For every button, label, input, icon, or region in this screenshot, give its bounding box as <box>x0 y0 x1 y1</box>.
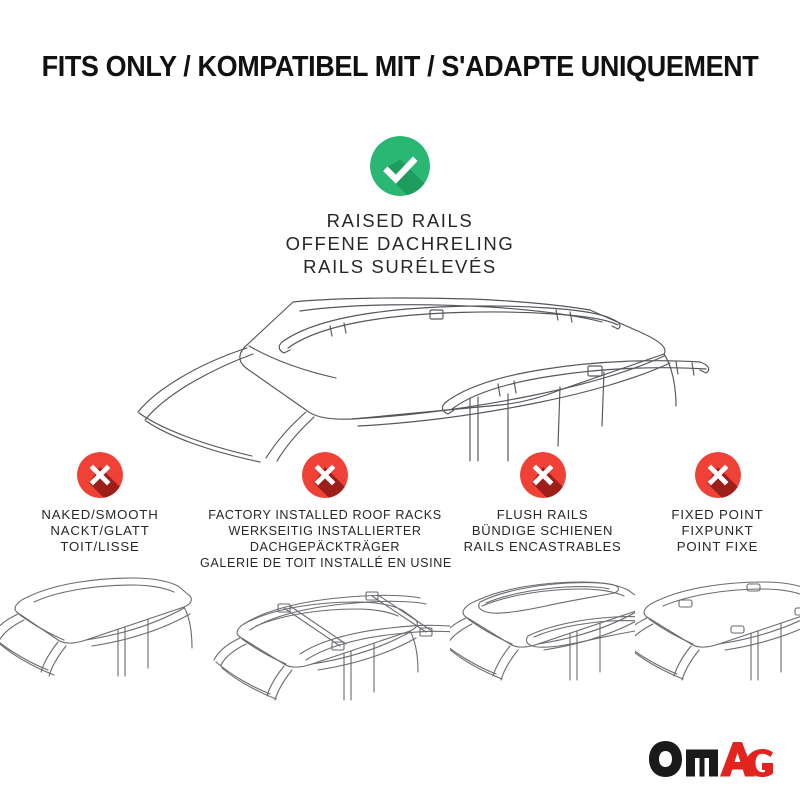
car-roof-flush-rails-illustration <box>450 556 635 706</box>
incompatible-item-flush-rails: FLUSH RAILS BÜNDIGE SCHIENEN RAILS ENCAS… <box>450 452 635 555</box>
incompatible-labels: FLUSH RAILS BÜNDIGE SCHIENEN RAILS ENCAS… <box>450 507 635 555</box>
car-roof-naked-smooth-illustration <box>0 556 200 706</box>
label-line-3: DACHGEPÄCKTRÄGER <box>200 539 450 555</box>
check-circle-icon <box>370 136 430 196</box>
label-line-3: TOIT/LISSE <box>0 539 200 555</box>
x-circle-icon <box>695 452 741 498</box>
car-roof-fixed-point-illustration <box>635 556 800 706</box>
compatible-section: RAISED RAILS OFFENE DACHRELING RAILS SUR… <box>0 136 800 476</box>
incompatible-section: NAKED/SMOOTH NACKT/GLATT TOIT/LISSE <box>0 452 800 571</box>
label-line-1: FACTORY INSTALLED ROOF RACKS <box>200 507 450 523</box>
car-roof-factory-roof-rack-illustration <box>200 570 450 720</box>
label-line-2: NACKT/GLATT <box>0 523 200 539</box>
omac-logo: OMAC <box>648 740 774 778</box>
label-line-2: FIXPUNKT <box>635 523 800 539</box>
page-title: FITS ONLY / KOMPATIBEL MIT / S'ADAPTE UN… <box>28 50 772 84</box>
x-circle-icon <box>302 452 348 498</box>
label-line-1: NAKED/SMOOTH <box>0 507 200 523</box>
compatible-labels: RAISED RAILS OFFENE DACHRELING RAILS SUR… <box>0 209 800 278</box>
compatible-label-en: RAISED RAILS <box>0 209 800 232</box>
omac-logo-text: OMAC <box>648 778 649 779</box>
label-line-3: RAILS ENCASTRABLES <box>450 539 635 555</box>
label-line-2: WERKSEITIG INSTALLIERTER <box>200 523 450 539</box>
incompatible-item-factory-roof-rack: FACTORY INSTALLED ROOF RACKS WERKSEITIG … <box>200 452 450 571</box>
incompatible-item-fixed-point: FIXED POINT FIXPUNKT POINT FIXE <box>635 452 800 555</box>
x-circle-icon <box>520 452 566 498</box>
incompatible-labels: FIXED POINT FIXPUNKT POINT FIXE <box>635 507 800 555</box>
label-line-1: FIXED POINT <box>635 507 800 523</box>
compatible-label-fr: RAILS SURÉLEVÉS <box>0 255 800 278</box>
label-line-3: POINT FIXE <box>635 539 800 555</box>
car-roof-with-raised-rails-illustration <box>0 286 800 471</box>
page-header: FITS ONLY / KOMPATIBEL MIT / S'ADAPTE UN… <box>0 50 800 84</box>
incompatible-item-naked-smooth: NAKED/SMOOTH NACKT/GLATT TOIT/LISSE <box>0 452 200 555</box>
compatible-label-de: OFFENE DACHRELING <box>0 232 800 255</box>
label-line-2: BÜNDIGE SCHIENEN <box>450 523 635 539</box>
label-line-4: GALERIE DE TOIT INSTALLÉ EN USINE <box>200 555 450 571</box>
label-line-1: FLUSH RAILS <box>450 507 635 523</box>
x-circle-icon <box>77 452 123 498</box>
incompatible-labels: FACTORY INSTALLED ROOF RACKS WERKSEITIG … <box>200 507 450 571</box>
incompatible-labels: NAKED/SMOOTH NACKT/GLATT TOIT/LISSE <box>0 507 200 555</box>
